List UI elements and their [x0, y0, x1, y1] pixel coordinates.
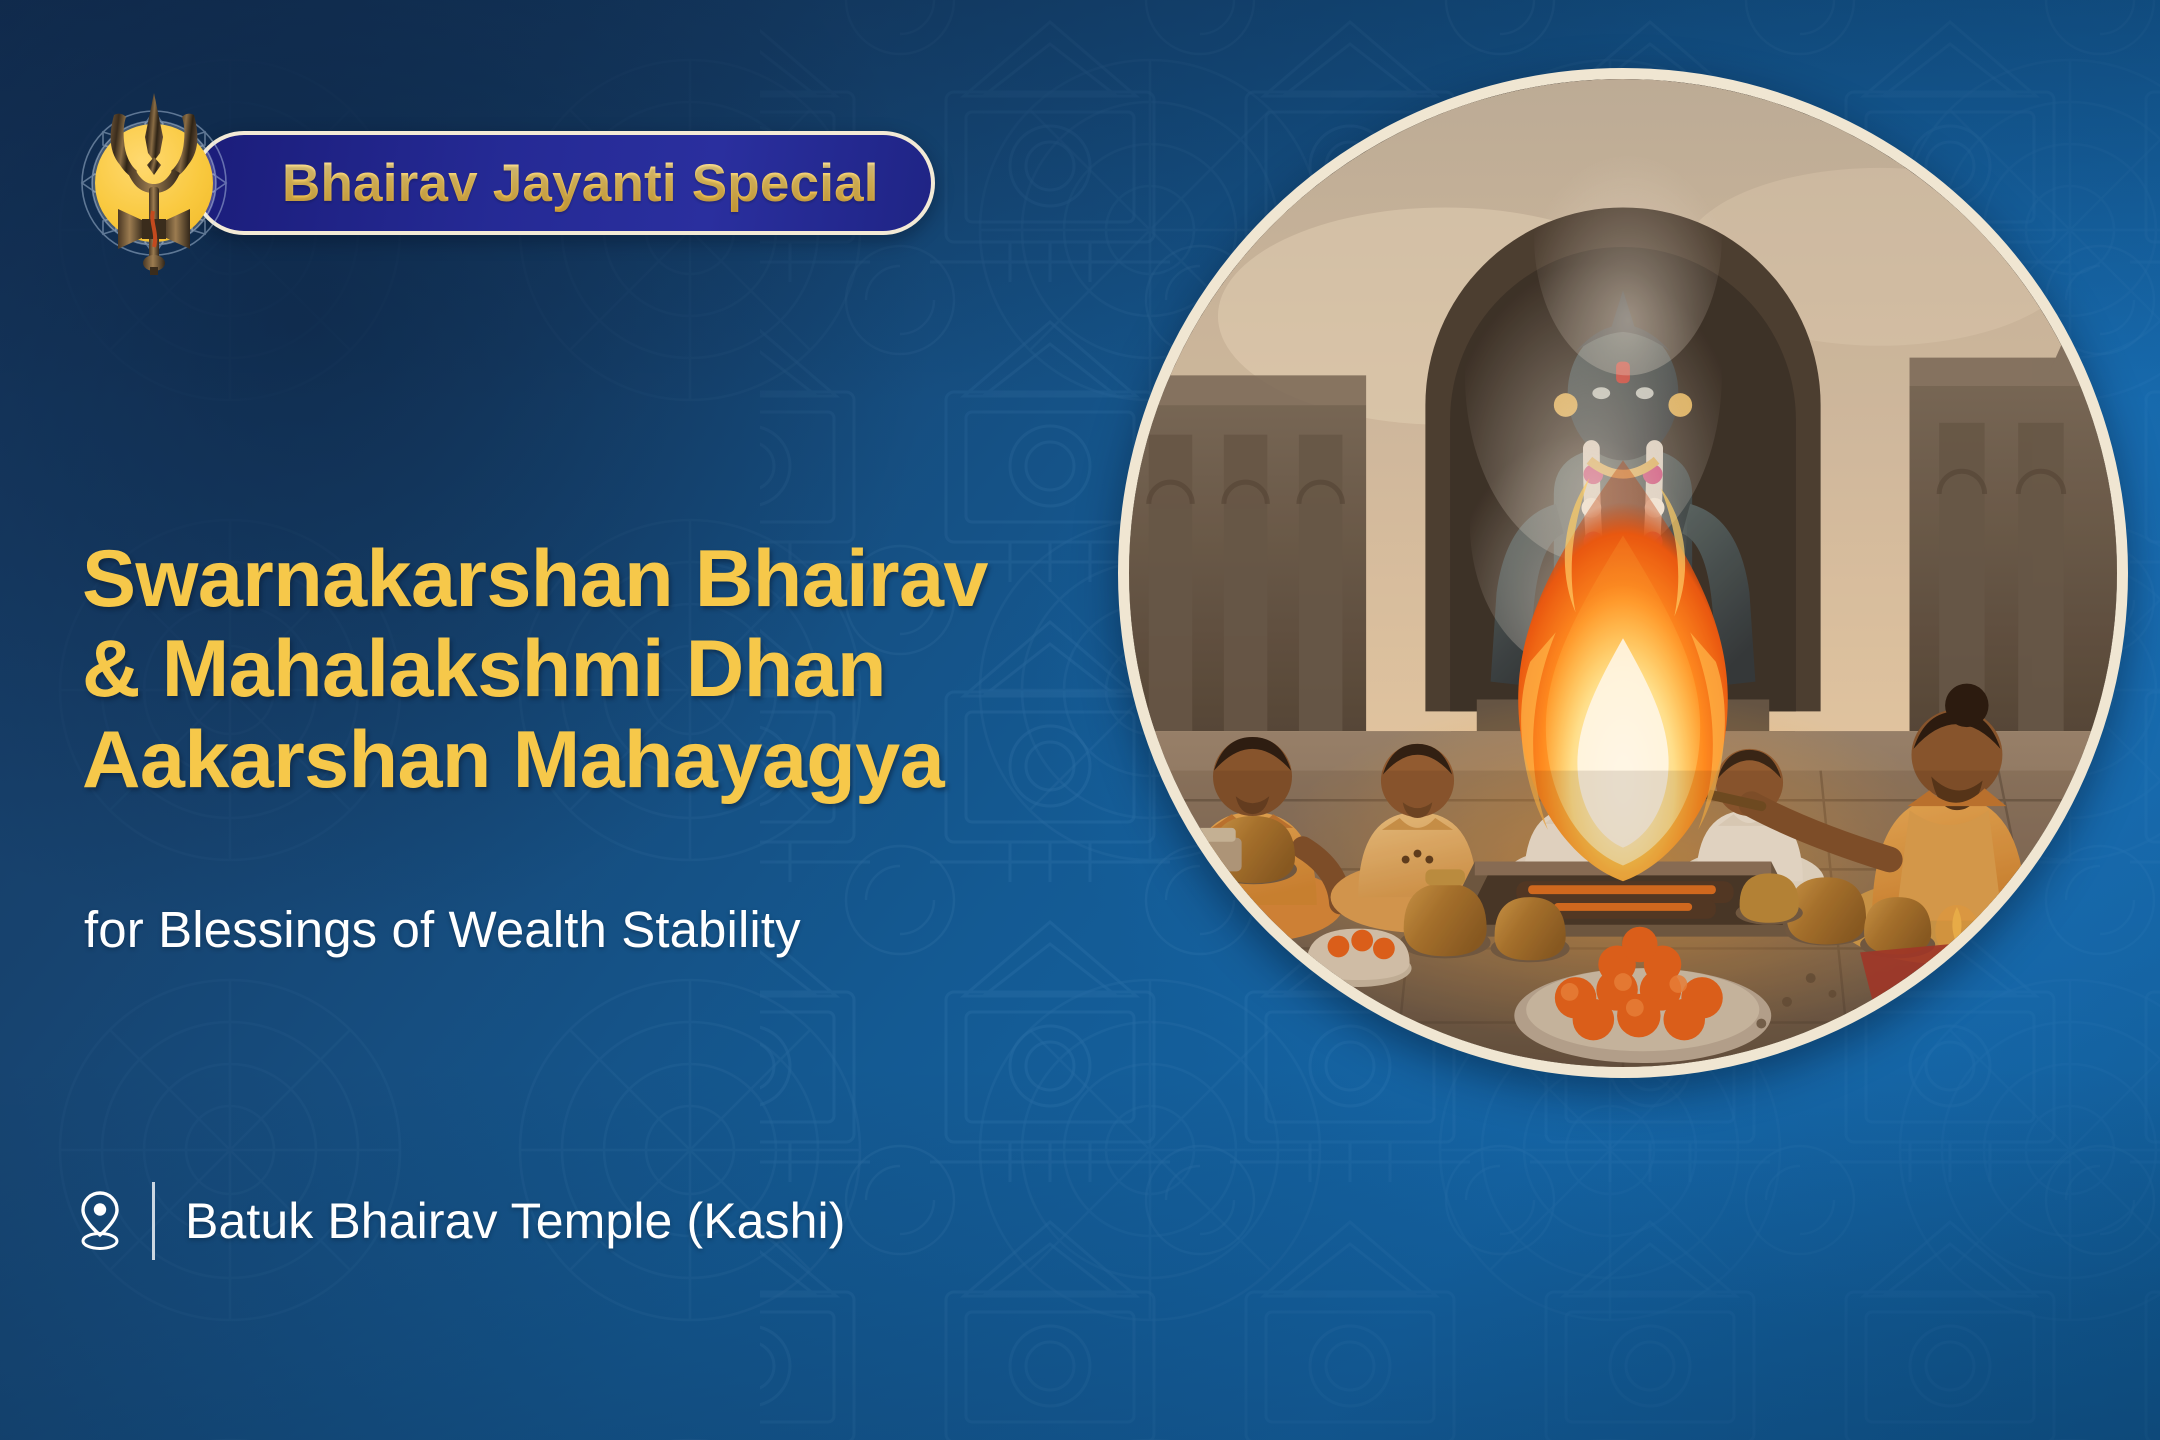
location-row: Batuk Bhairav Temple (Kashi)	[76, 1182, 846, 1260]
headline-line-1: Swarnakarshan Bhairav	[82, 534, 1092, 624]
promo-banner: Bhairav Jayanti Special Swarnakarshan Bh…	[0, 0, 2160, 1440]
headline-line-3: Aakarshan Mahayagya	[82, 715, 1092, 805]
badge-pill[interactable]: Bhairav Jayanti Special	[192, 131, 935, 235]
yagya-ritual-photo	[1118, 68, 2128, 1078]
badge-row: Bhairav Jayanti Special	[78, 108, 935, 258]
location-label: Batuk Bhairav Temple (Kashi)	[185, 1192, 846, 1250]
yagya-scene-illustration	[1129, 79, 2117, 1067]
badge-label: Bhairav Jayanti Special	[282, 153, 879, 214]
left-content-column: Bhairav Jayanti Special Swarnakarshan Bh…	[0, 0, 1120, 1440]
subtitle: for Blessings of Wealth Stability	[84, 900, 801, 959]
offering-plate-right	[1927, 954, 2117, 1067]
page-title: Swarnakarshan Bhairav & Mahalakshmi Dhan…	[82, 534, 1092, 805]
location-divider	[152, 1182, 155, 1260]
headline-line-2: & Mahalakshmi Dhan	[82, 624, 1092, 714]
trishul-damru-icon	[84, 91, 224, 275]
brand-logo	[78, 107, 230, 259]
photo-inner	[1129, 79, 2117, 1067]
location-pin-icon	[76, 1191, 124, 1251]
